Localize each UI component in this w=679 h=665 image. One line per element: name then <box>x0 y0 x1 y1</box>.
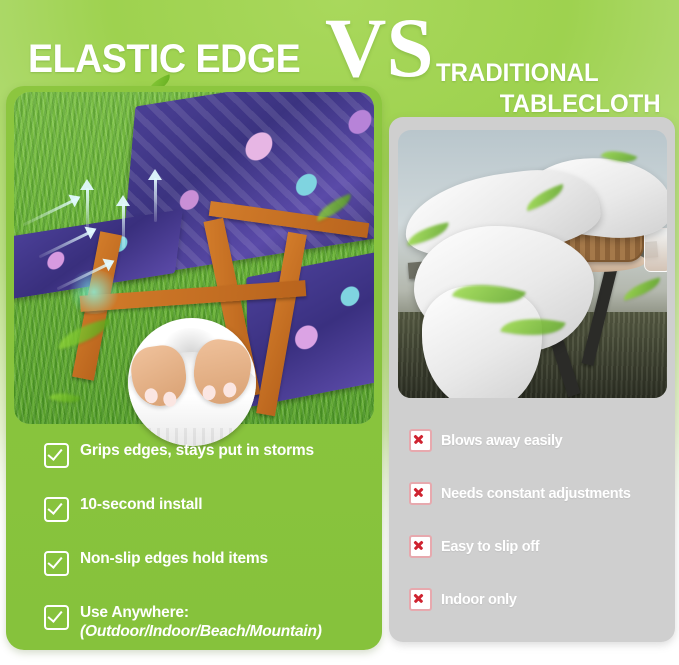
benefit-item: Grips edges, stays put in storms <box>44 442 374 468</box>
benefit-item: 10-second install <box>44 496 374 522</box>
drawback-label: Needs constant adjustments <box>441 486 631 502</box>
drawback-item: Indoor only <box>409 588 675 611</box>
checkbox-icon <box>44 497 69 522</box>
heading-traditional-tablecloth: TRADITIONAL TABLECLOTH <box>436 58 666 119</box>
fingernail <box>202 384 217 401</box>
fingernail <box>222 382 237 399</box>
drawback-label: Indoor only <box>441 592 517 608</box>
elastic-edge-closeup-inset <box>128 318 256 446</box>
drawback-item: Blows away easily <box>409 429 675 452</box>
heading-vs: VS <box>325 6 434 91</box>
white-tablecloth-section <box>422 286 542 398</box>
drawback-label: Blows away easily <box>441 433 562 449</box>
drawbacks-list: Blows away easily Needs constant adjustm… <box>409 429 675 641</box>
heading-traditional-line2: TABLECLOTH <box>436 89 666 120</box>
benefit-item: Non-slip edges hold items <box>44 550 374 576</box>
infographic-root: ELASTIC EDGE VS TRADITIONAL TABLECLOTH <box>0 0 679 665</box>
x-mark-icon <box>409 482 432 505</box>
x-mark-icon <box>409 535 432 558</box>
wind-arrow-up-3 <box>154 178 157 222</box>
wind-arrow-up-1 <box>86 188 89 232</box>
checkbox-icon <box>44 443 69 468</box>
benefit-sublabel: (Outdoor/Indoor/Beach/Mountain) <box>80 623 322 642</box>
benefit-label: Non-slip edges hold items <box>80 550 268 569</box>
x-mark-icon <box>409 588 432 611</box>
checkbox-icon <box>44 551 69 576</box>
benefits-list: Grips edges, stays put in storms 10-seco… <box>44 442 374 665</box>
fingernail <box>144 387 159 404</box>
wind-glow <box>66 270 122 314</box>
benefit-label: Use Anywhere: <box>80 604 189 621</box>
drawback-label: Easy to slip off <box>441 539 539 555</box>
benefit-item: Use Anywhere: (Outdoor/Indoor/Beach/Moun… <box>44 604 374 642</box>
checkbox-icon <box>44 605 69 630</box>
traditional-tablecloth-photo <box>398 130 667 398</box>
x-mark-icon <box>409 429 432 452</box>
drinking-glass <box>644 228 667 272</box>
benefit-label: 10-second install <box>80 496 202 515</box>
drawback-item: Needs constant adjustments <box>409 482 675 505</box>
benefit-label: Grips edges, stays put in storms <box>80 442 314 461</box>
wind-arrow-up-2 <box>122 204 125 248</box>
heading-traditional-line1: TRADITIONAL <box>436 58 666 89</box>
drawback-item: Easy to slip off <box>409 535 675 558</box>
